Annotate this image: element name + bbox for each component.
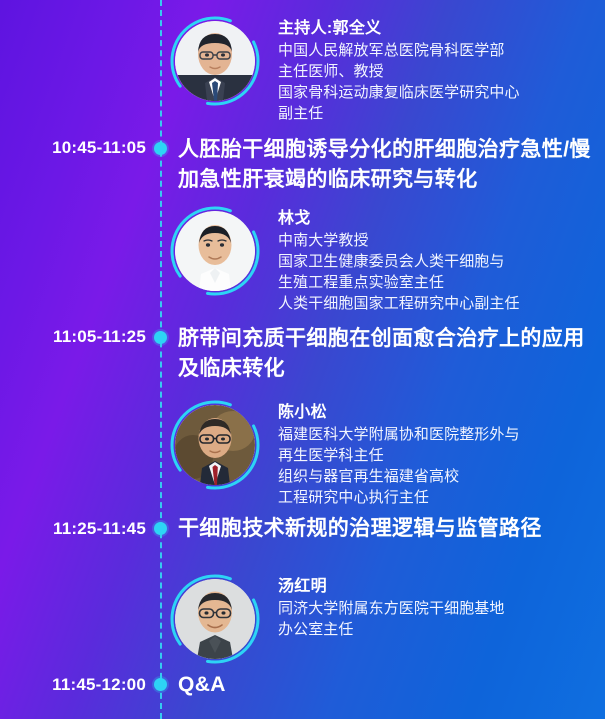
speaker-affiliation-line: 主任医师、教授 [278,61,520,82]
speaker-affiliation-line: 同济大学附属东方医院干细胞基地 [278,598,505,619]
session-title: 干细胞技术新规的治理逻辑与监管路径 [178,516,593,542]
avatar [168,14,262,108]
session-title: 人胚胎干细胞诱导分化的肝细胞治疗急性/慢加急性肝衰竭的临床研究与转化 [178,135,593,195]
timeline-dot-2 [154,331,167,344]
speaker-text-4: 汤红明 同济大学附属东方医院干细胞基地 办公室主任 [278,572,505,640]
speaker-block-1: 主持人:郭全义 中国人民解放军总医院骨科医学部 主任医师、教授 国家骨科运动康复… [168,14,520,124]
avatar-photo-4 [175,579,255,659]
avatar-photo-1 [175,21,255,101]
speaker-name: 主持人:郭全义 [278,18,520,39]
avatar-photo-3 [175,405,255,485]
speaker-affiliation-line: 副主任 [278,103,520,124]
avatar [168,204,262,298]
timeline-dot-3 [154,522,167,535]
avatar [168,398,262,492]
speaker-affiliation-line: 办公室主任 [278,619,505,640]
avatar-photo-2 [175,211,255,291]
speaker-block-4: 汤红明 同济大学附属东方医院干细胞基地 办公室主任 [168,572,505,666]
avatar [168,572,262,666]
speaker-affiliation-line: 国家骨科运动康复临床医学研究中心 [278,82,520,103]
speaker-text-2: 林戈 中南大学教授 国家卫生健康委员会人类干细胞与 生殖工程重点实验室主任 人类… [278,204,520,314]
session-time: 10:45-11:05 [0,135,146,161]
speaker-affiliation-line: 工程研究中心执行主任 [278,487,520,508]
speaker-affiliation-line: 中国人民解放军总医院骨科医学部 [278,40,520,61]
session-time: 11:45-12:00 [0,672,146,698]
timeline-dashed-line [160,0,162,719]
speaker-affiliation-line: 福建医科大学附属协和医院整形外与 [278,424,520,445]
speaker-block-3: 陈小松 福建医科大学附属协和医院整形外与 再生医学科主任 组织与器官再生福建省高… [168,398,520,508]
session-time: 11:25-11:45 [0,516,146,542]
speaker-affiliation-line: 国家卫生健康委员会人类干细胞与 [278,251,520,272]
speaker-block-2: 林戈 中南大学教授 国家卫生健康委员会人类干细胞与 生殖工程重点实验室主任 人类… [168,204,520,314]
timeline-dot-4 [154,678,167,691]
speaker-name: 陈小松 [278,402,520,423]
speaker-affiliation-line: 再生医学科主任 [278,445,520,466]
speaker-affiliation-line: 中南大学教授 [278,230,520,251]
speaker-affiliation-line: 生殖工程重点实验室主任 [278,272,520,293]
timeline-dot-1 [154,142,167,155]
session-title: Q&A [178,672,593,698]
session-time: 11:05-11:25 [0,324,146,350]
session-title: 脐带间充质干细胞在创面愈合治疗上的应用及临床转化 [178,324,593,384]
speaker-name: 汤红明 [278,576,505,597]
speaker-affiliation-line: 人类干细胞国家工程研究中心副主任 [278,293,520,314]
agenda-poster: 主持人:郭全义 中国人民解放军总医院骨科医学部 主任医师、教授 国家骨科运动康复… [0,0,605,719]
speaker-text-3: 陈小松 福建医科大学附属协和医院整形外与 再生医学科主任 组织与器官再生福建省高… [278,398,520,508]
speaker-name: 林戈 [278,208,520,229]
speaker-affiliation-line: 组织与器官再生福建省高校 [278,466,520,487]
speaker-text-1: 主持人:郭全义 中国人民解放军总医院骨科医学部 主任医师、教授 国家骨科运动康复… [278,14,520,124]
